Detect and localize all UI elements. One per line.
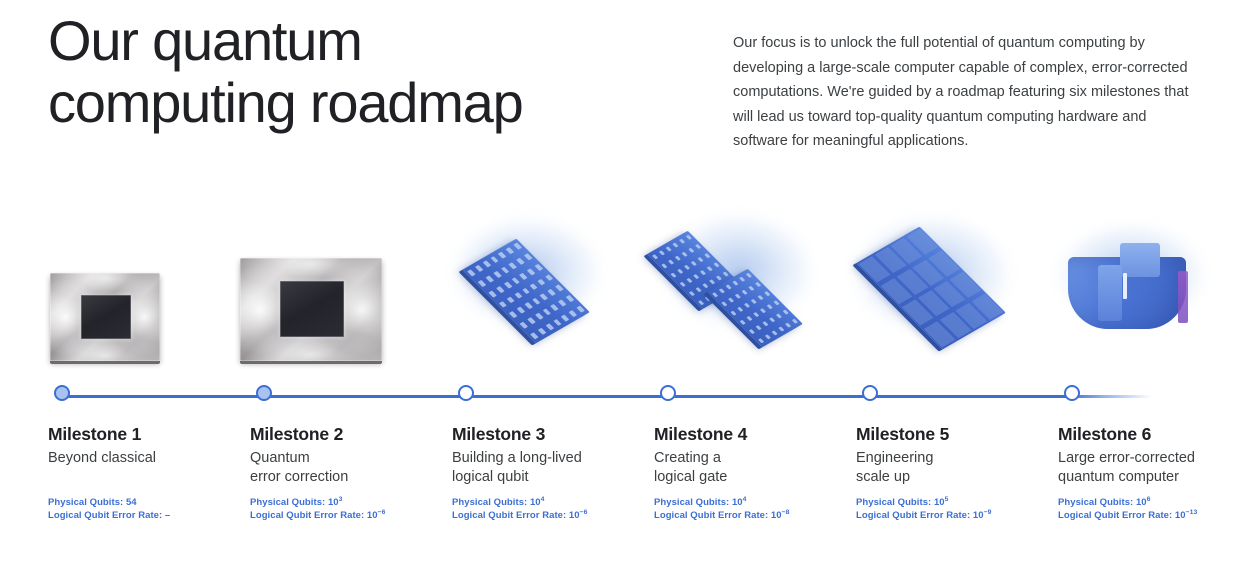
qubit-cell: [530, 283, 538, 290]
qubit-cell: [698, 300, 705, 306]
milestone-6-specs: Physical Qubits: 106 Logical Qubit Error…: [1058, 496, 1242, 522]
qubit-cell: [545, 274, 553, 281]
qubit-cell: [524, 253, 532, 260]
qubit-cell: [553, 319, 561, 326]
qubit-cell: [721, 301, 728, 307]
qubit-cell: [744, 302, 751, 308]
qubit-cell: [566, 295, 574, 302]
qubit-cell: [732, 280, 739, 286]
qubit-cell: [504, 282, 512, 289]
milestone-1-specs: Physical Qubits: 54 Logical Qubit Error …: [48, 496, 258, 522]
timeline-dot-2[interactable]: [256, 385, 272, 401]
qubit-cell: [535, 313, 543, 320]
qubit-cell: [670, 272, 677, 278]
milestone-5-title: Milestone 5: [856, 423, 1056, 445]
milestone-1-physical-qubits: Physical Qubits: 54: [48, 496, 258, 509]
qubit-cell: [695, 244, 702, 250]
qubit-cell: [661, 263, 668, 269]
intro-paragraph: Our focus is to unlock the full potentia…: [733, 31, 1203, 154]
milestone-2-title: Milestone 2: [250, 423, 450, 445]
milestone-2-error-rate: Logical Qubit Error Rate: 10−6: [250, 509, 460, 522]
qubit-cell: [475, 265, 483, 272]
qubit-cell: [699, 270, 706, 276]
milestone-2-artwork: [250, 215, 450, 375]
qubit-cell: [748, 329, 755, 335]
milestone-4-subtitle: Creating a logical gate: [654, 449, 854, 487]
qubit-cell: [668, 259, 675, 265]
qubit-cell: [511, 277, 519, 284]
qubit-cell: [532, 298, 540, 305]
qubit-cell: [757, 295, 764, 301]
qubit-cell: [506, 247, 514, 254]
qubit-cell: [490, 256, 498, 263]
milestone-2-specs: Physical Qubits: 103 Logical Qubit Error…: [250, 496, 460, 522]
qubit-cell: [734, 293, 741, 299]
milestone-1-title: Milestone 1: [48, 423, 248, 445]
qubit-cell: [702, 283, 709, 289]
qubit-cell: [704, 253, 711, 259]
qubit-cell: [517, 307, 525, 314]
qubit-cell: [546, 324, 554, 331]
qubit-cell: [513, 243, 521, 250]
qubit-cell: [725, 284, 732, 290]
qubit-cell: [534, 264, 542, 271]
qubit-cell: [558, 300, 566, 307]
qubit-cell: [709, 279, 716, 285]
milestone-3-artwork: [452, 215, 652, 375]
milestone-3-subtitle: Building a long-lived logical qubit: [452, 449, 652, 487]
milestone-5-physical-qubits: Physical Qubits: 105: [856, 496, 1066, 509]
qubit-cell: [519, 273, 527, 280]
milestone-3-title: Milestone 3: [452, 423, 652, 445]
qubit-cell: [685, 234, 692, 240]
timeline-line: [62, 395, 1152, 398]
qubit-cell: [713, 262, 720, 268]
qubit-cell: [769, 317, 776, 323]
qubit-cell: [695, 287, 702, 293]
qubit-cell: [753, 312, 760, 318]
qubit-cell: [501, 267, 509, 274]
qubit-cell: [755, 325, 762, 331]
qubit-cell: [750, 299, 757, 305]
qubit-cell: [516, 258, 524, 265]
qubit-cell: [543, 309, 551, 316]
qubit-cell: [485, 275, 493, 282]
qubit-cell: [467, 269, 475, 276]
milestone-1-artwork: [48, 215, 248, 375]
qubit-cell: [785, 322, 792, 328]
qubit-cell: [782, 309, 789, 315]
milestone-6-subtitle: Large error-corrected quantum computer: [1058, 449, 1242, 487]
qubit-cell: [652, 254, 659, 260]
qubit-cell: [775, 313, 782, 319]
timeline-dot-6[interactable]: [1064, 385, 1080, 401]
qubit-cell: [679, 238, 686, 244]
qubit-cell: [791, 318, 798, 324]
qubit-cell: [569, 310, 577, 317]
qubit-cell: [527, 268, 535, 275]
qubit-cell: [677, 268, 684, 274]
qubit-cell: [674, 255, 681, 261]
qubit-cell: [759, 308, 766, 314]
milestone-5-artwork: [856, 215, 1056, 375]
qubit-cell: [530, 332, 538, 339]
qubit-cell: [527, 317, 535, 324]
milestone-4-artwork: [654, 215, 854, 375]
qubit-cell: [496, 286, 504, 293]
milestone-4-text: Milestone 4 Creating a logical gate: [654, 423, 854, 487]
qubit-cell: [658, 250, 665, 256]
milestone-1-subtitle: Beyond classical: [48, 449, 248, 468]
qubit-cell: [561, 315, 569, 322]
milestone-4-title: Milestone 4: [654, 423, 854, 445]
qubit-cell: [704, 296, 711, 302]
qubit-cell: [688, 247, 695, 253]
qubit-cell: [715, 275, 722, 281]
milestone-5-text: Milestone 5 Engineering scale up: [856, 423, 1056, 487]
qubit-cell: [506, 296, 514, 303]
qubit-cell: [718, 288, 725, 294]
qubit-cell: [509, 311, 517, 318]
qubit-cell: [672, 242, 679, 248]
milestone-6-text: Milestone 6 Large error-corrected quantu…: [1058, 423, 1242, 487]
milestone-6-title: Milestone 6: [1058, 423, 1242, 445]
qubit-cell: [722, 271, 729, 277]
qubit-cell: [488, 290, 496, 297]
milestone-4-specs: Physical Qubits: 104 Logical Qubit Error…: [654, 496, 864, 522]
qubit-cell: [499, 301, 507, 308]
qubit-cell: [483, 260, 491, 267]
qubit-cell: [693, 274, 700, 280]
timeline-dot-4[interactable]: [660, 385, 676, 401]
qubit-cell: [665, 246, 672, 252]
milestone-4-physical-qubits: Physical Qubits: 104: [654, 496, 864, 509]
qubit-cell: [555, 285, 563, 292]
blue-cryostat-icon: [1068, 243, 1198, 339]
qubit-cell: [520, 322, 528, 329]
qubit-cell: [762, 321, 769, 327]
qubit-cell: [522, 288, 530, 295]
qubit-cell: [739, 276, 746, 282]
qubit-cell: [730, 310, 737, 316]
qubit-cell: [739, 319, 746, 325]
milestone-3-text: Milestone 3 Building a long-lived logica…: [452, 423, 652, 487]
qubit-cell: [764, 334, 771, 340]
qubit-cell: [766, 304, 773, 310]
roadmap-track: Milestone 1 Beyond classical Physical Qu…: [0, 215, 1242, 565]
qubit-cell: [706, 266, 713, 272]
qubit-cell: [681, 251, 688, 257]
qubit-cell: [577, 306, 585, 313]
qubit-cell: [690, 261, 697, 267]
milestone-5-subtitle: Engineering scale up: [856, 449, 1056, 487]
qubit-cell: [551, 304, 559, 311]
page-title: Our quantum computing roadmap: [48, 10, 728, 134]
qubit-cell: [728, 297, 735, 303]
qubit-cell: [514, 292, 522, 299]
qubit-cell: [745, 272, 752, 278]
qubit-cell: [778, 326, 785, 332]
milestone-1-error-rate: Logical Qubit Error Rate: –: [48, 509, 258, 522]
qubit-cell: [509, 262, 517, 269]
qubit-cell: [540, 294, 548, 301]
milestone-4-error-rate: Logical Qubit Error Rate: 10−8: [654, 509, 864, 522]
qubit-cell: [758, 338, 765, 344]
qubit-cell: [478, 280, 486, 287]
page-header: Our quantum computing roadmap Our focus …: [0, 0, 1242, 190]
qubit-cell: [493, 271, 501, 278]
qubit-cell: [525, 303, 533, 310]
qubit-cell: [773, 300, 780, 306]
milestone-1-text: Milestone 1 Beyond classical: [48, 423, 248, 468]
qubit-cell: [498, 252, 506, 259]
qubit-cell: [741, 289, 748, 295]
silver-chip-icon: [50, 273, 160, 361]
qubit-cell: [684, 264, 691, 270]
qubit-cell: [746, 316, 753, 322]
milestone-3-physical-qubits: Physical Qubits: 104: [452, 496, 662, 509]
milestone-5-specs: Physical Qubits: 105 Logical Qubit Error…: [856, 496, 1066, 522]
qubit-cell: [771, 330, 778, 336]
timeline-dot-3[interactable]: [458, 385, 474, 401]
milestone-6-error-rate: Logical Qubit Error Rate: 10−13: [1058, 509, 1242, 522]
milestone-6-artwork: [1058, 215, 1242, 375]
qubit-cell: [537, 279, 545, 286]
qubit-cell: [688, 291, 695, 297]
milestone-6-physical-qubits: Physical Qubits: 106: [1058, 496, 1242, 509]
timeline-dot-5[interactable]: [862, 385, 878, 401]
qubit-cell: [538, 328, 546, 335]
qubit-cell: [548, 289, 556, 296]
silver-chip-icon: [240, 258, 382, 361]
qubit-cell: [712, 292, 719, 298]
timeline-dot-1[interactable]: [54, 385, 70, 401]
milestone-2-physical-qubits: Physical Qubits: 103: [250, 496, 460, 509]
qubit-cell: [748, 285, 755, 291]
qubit-cell: [755, 282, 762, 288]
milestone-5-error-rate: Logical Qubit Error Rate: 10−9: [856, 509, 1066, 522]
milestone-2-text: Milestone 2 Quantum error correction: [250, 423, 450, 487]
milestone-2-subtitle: Quantum error correction: [250, 449, 450, 487]
roadmap-section: Milestone 1 Beyond classical Physical Qu…: [0, 215, 1242, 565]
milestone-3-error-rate: Logical Qubit Error Rate: 10−6: [452, 509, 662, 522]
milestone-3-specs: Physical Qubits: 104 Logical Qubit Error…: [452, 496, 662, 522]
qubit-cell: [679, 281, 686, 287]
qubit-cell: [686, 278, 693, 284]
qubit-cell: [764, 291, 771, 297]
qubit-cell: [697, 257, 704, 263]
qubit-cell: [737, 306, 744, 312]
